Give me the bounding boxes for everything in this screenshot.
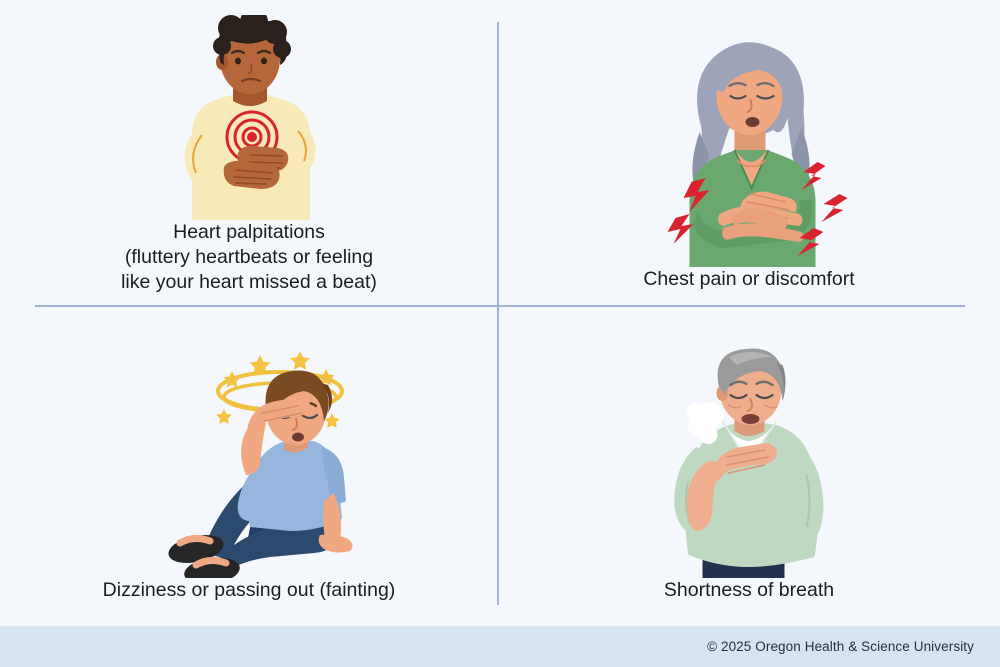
man-sitting-stars-halo-icon	[124, 343, 374, 578]
illustration-woman-chest-pain-lightning	[500, 0, 998, 267]
symptoms-infographic: Heart palpitations (fluttery heartbeats …	[0, 0, 1000, 667]
copyright-text: © 2025 Oregon Health & Science Universit…	[707, 639, 1000, 654]
panel-heart-palpitations: Heart palpitations (fluttery heartbeats …	[0, 0, 498, 305]
illustration-man-dizzy-sitting	[0, 307, 498, 578]
illustration-man-chest-pain-rings	[0, 0, 498, 220]
older-man-hand-to-chest-icon	[637, 343, 862, 578]
panel-caption: Dizziness or passing out (fainting)	[103, 578, 396, 607]
man-hands-on-chest-pain-rings-icon	[134, 15, 364, 220]
illustration-older-man-breath	[500, 307, 998, 578]
panel-caption: Shortness of breath	[664, 578, 834, 607]
panel-caption: Heart palpitations (fluttery heartbeats …	[121, 220, 377, 305]
panel-dizziness-fainting: Dizziness or passing out (fainting)	[0, 307, 498, 607]
panel-shortness-of-breath: Shortness of breath	[500, 307, 998, 607]
panel-caption: Chest pain or discomfort	[643, 267, 854, 305]
panel-chest-pain: Chest pain or discomfort	[500, 0, 998, 305]
woman-arms-crossed-lightning-icon	[632, 32, 867, 267]
footer-band: © 2025 Oregon Health & Science Universit…	[0, 626, 1000, 667]
